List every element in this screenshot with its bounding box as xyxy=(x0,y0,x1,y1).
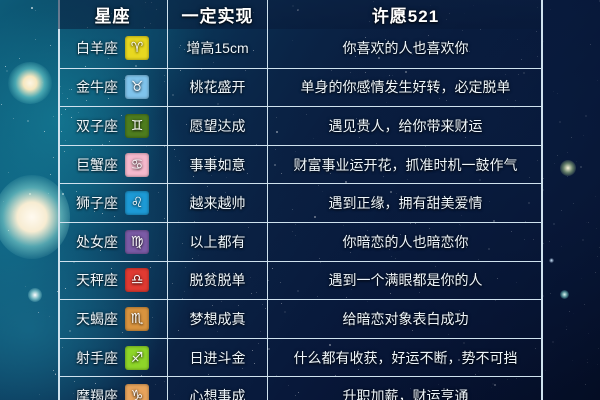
cell-text: 你喜欢的人也喜欢你 xyxy=(268,29,543,68)
header-cell-sign: 星座 xyxy=(58,0,168,29)
table-row: 白羊座♈增高15cm你喜欢的人也喜欢你 xyxy=(58,29,543,68)
zodiac-wish-table: 星座 一定实现 许愿521 白羊座♈增高15cm你喜欢的人也喜欢你金牛座♉桃花盛… xyxy=(58,0,543,400)
aries-icon: ♈ xyxy=(125,36,149,60)
cell-wish: 增高15cm xyxy=(168,29,268,68)
cell-sign: 双子座♊ xyxy=(58,107,168,145)
scorpio-icon: ♏ xyxy=(125,307,149,331)
cell-text: 遇见贵人，给你带来财运 xyxy=(268,107,543,145)
cell-sign: 金牛座♉ xyxy=(58,69,168,107)
cell-wish: 愿望达成 xyxy=(168,107,268,145)
sign-name: 处女座 xyxy=(76,232,118,252)
cancer-icon: ♋ xyxy=(125,153,149,177)
cell-wish: 梦想成真 xyxy=(168,300,268,338)
sagittarius-icon: ♐ xyxy=(125,346,149,370)
cell-text: 单身的你感情发生好转，必定脱单 xyxy=(268,69,543,107)
star-glow-right-tiny xyxy=(549,258,554,263)
taurus-icon: ♉ xyxy=(125,75,149,99)
table-body: 白羊座♈增高15cm你喜欢的人也喜欢你金牛座♉桃花盛开单身的你感情发生好转，必定… xyxy=(58,29,543,400)
sign-name: 白羊座 xyxy=(76,38,118,58)
cell-wish: 脱贫脱单 xyxy=(168,262,268,300)
cell-text: 财富事业运开花，抓准时机一鼓作气 xyxy=(268,146,543,184)
table-row: 金牛座♉桃花盛开单身的你感情发生好转，必定脱单 xyxy=(58,68,543,107)
libra-icon: ♎ xyxy=(125,268,149,292)
star-glow-right-lower xyxy=(560,290,569,299)
leo-icon: ♌ xyxy=(125,191,149,215)
table-row: 处女座♍以上都有你暗恋的人也暗恋你 xyxy=(58,222,543,261)
table-row: 射手座♐日进斗金什么都有收获，好运不断，势不可挡 xyxy=(58,338,543,377)
table-row: 天秤座♎脱贫脱单遇到一个满眼都是你的人 xyxy=(58,261,543,300)
sign-name: 摩羯座 xyxy=(76,386,118,400)
sign-name: 天蝎座 xyxy=(76,309,118,329)
cell-sign: 白羊座♈ xyxy=(58,29,168,68)
sign-name: 双子座 xyxy=(76,116,118,136)
header-cell-text: 许愿521 xyxy=(268,0,543,29)
sign-name: 金牛座 xyxy=(76,77,118,97)
table-row: 天蝎座♏梦想成真给暗恋对象表白成功 xyxy=(58,299,543,338)
sign-name: 狮子座 xyxy=(76,193,118,213)
cell-sign: 天蝎座♏ xyxy=(58,300,168,338)
cell-sign: 巨蟹座♋ xyxy=(58,146,168,184)
cell-text: 你暗恋的人也暗恋你 xyxy=(268,223,543,261)
sign-name: 天秤座 xyxy=(76,270,118,290)
cell-wish: 桃花盛开 xyxy=(168,69,268,107)
star-glow-left xyxy=(28,288,42,302)
table-row: 巨蟹座♋事事如意财富事业运开花，抓准时机一鼓作气 xyxy=(58,145,543,184)
cell-sign: 摩羯座♑ xyxy=(58,377,168,400)
cell-text: 遇到一个满眼都是你的人 xyxy=(268,262,543,300)
star-glow-right-upper xyxy=(560,160,576,176)
table-row: 摩羯座♑心想事成升职加薪，财运亨通 xyxy=(58,376,543,400)
cell-sign: 射手座♐ xyxy=(58,339,168,377)
table-header-row: 星座 一定实现 许愿521 xyxy=(58,0,543,29)
cell-wish: 以上都有 xyxy=(168,223,268,261)
header-cell-wish: 一定实现 xyxy=(168,0,268,29)
virgo-icon: ♍ xyxy=(125,230,149,254)
cell-sign: 处女座♍ xyxy=(58,223,168,261)
cell-sign: 天秤座♎ xyxy=(58,262,168,300)
table-row: 双子座♊愿望达成遇见贵人，给你带来财运 xyxy=(58,106,543,145)
cell-text: 升职加薪，财运亨通 xyxy=(268,377,543,400)
gemini-icon: ♊ xyxy=(125,114,149,138)
table-row: 狮子座♌越来越帅遇到正缘，拥有甜美爱情 xyxy=(58,183,543,222)
cell-wish: 事事如意 xyxy=(168,146,268,184)
cell-text: 什么都有收获，好运不断，势不可挡 xyxy=(268,339,543,377)
nebula-glow-small-upper xyxy=(8,62,52,104)
sign-name: 巨蟹座 xyxy=(76,155,118,175)
capricorn-icon: ♑ xyxy=(125,384,149,400)
cell-sign: 狮子座♌ xyxy=(58,184,168,222)
cell-wish: 越来越帅 xyxy=(168,184,268,222)
cell-wish: 日进斗金 xyxy=(168,339,268,377)
cell-text: 遇到正缘，拥有甜美爱情 xyxy=(268,184,543,222)
sign-name: 射手座 xyxy=(76,348,118,368)
cell-wish: 心想事成 xyxy=(168,377,268,400)
cell-text: 给暗恋对象表白成功 xyxy=(268,300,543,338)
